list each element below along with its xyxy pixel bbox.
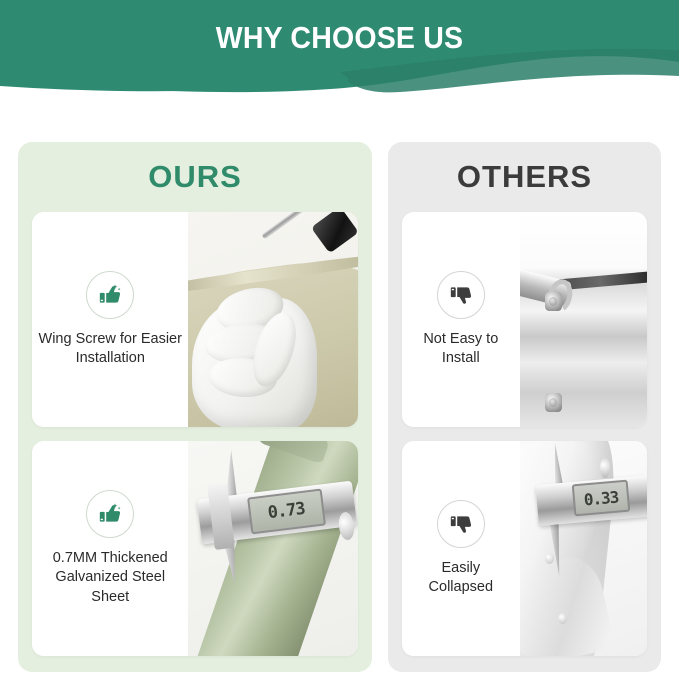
ours-card-1[interactable]: Wing Screw for Easier Installation [32, 212, 358, 427]
ours-heading: OURS [18, 142, 372, 212]
ours-card-2[interactable]: 0.7MM Thickened Galvanized Steel Sheet 0… [32, 441, 358, 656]
thumbs-up-icon [86, 271, 134, 319]
page-title: WHY CHOOSE US [27, 0, 652, 76]
ours-panel: OURS Wing [18, 142, 372, 672]
ours-card-1-text-side: Wing Screw for Easier Installation [32, 212, 188, 427]
caliper-measuring-thick-sheet-photo: 0.73 [188, 441, 358, 656]
thumbs-down-icon [437, 271, 485, 319]
others-card-2-text-side: Easily Collapsed [402, 441, 520, 656]
wing-screw-installation-photo [188, 212, 358, 427]
others-card-1-text-side: Not Easy to Install [402, 212, 520, 427]
others-card-2[interactable]: Easily Collapsed [402, 441, 647, 656]
others-heading: OTHERS [388, 142, 661, 212]
thumbs-up-icon [86, 490, 134, 538]
caliper-measuring-thin-sheet-photo: 0.33 [520, 441, 647, 656]
header-banner: WHY CHOOSE US [0, 0, 679, 100]
others-card-1-label: Not Easy to Install [406, 330, 516, 368]
ours-card-2-label: 0.7MM Thickened Galvanized Steel Sheet [36, 549, 184, 606]
thumbs-down-icon [437, 500, 485, 548]
caliper-reading-others: 0.33 [572, 479, 631, 516]
ours-card-list: Wing Screw for Easier Installation [18, 212, 372, 672]
infographic-page: WHY CHOOSE US OURS [0, 0, 679, 679]
wrench-bolt-installation-photo [520, 212, 647, 427]
ours-card-2-text-side: 0.7MM Thickened Galvanized Steel Sheet [32, 441, 188, 656]
comparison-panels: OURS Wing [18, 142, 661, 672]
others-panel: OTHERS Not Easy to Install [388, 142, 661, 672]
others-card-2-label: Easily Collapsed [406, 559, 516, 597]
ours-card-1-label: Wing Screw for Easier Installation [36, 330, 184, 368]
others-card-list: Not Easy to Install [388, 212, 661, 672]
others-card-1[interactable]: Not Easy to Install [402, 212, 647, 427]
